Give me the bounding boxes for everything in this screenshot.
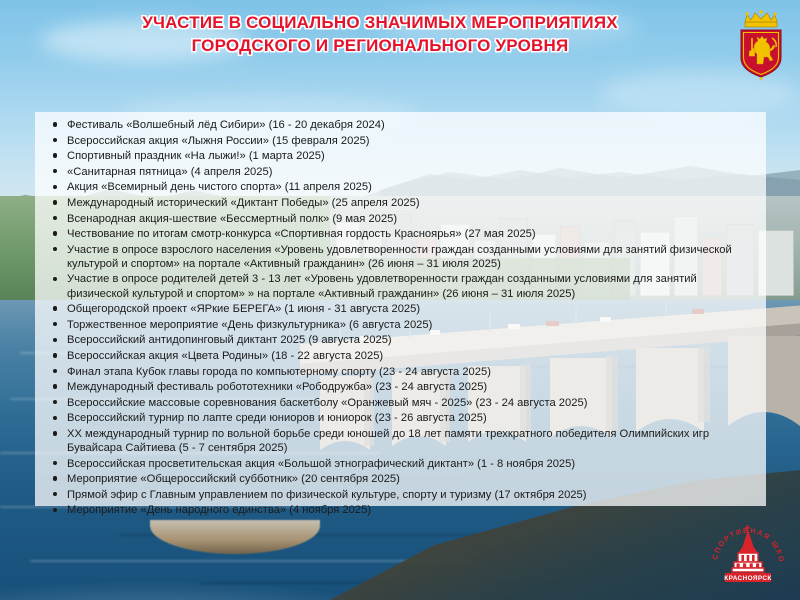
- list-item: Фестиваль «Волшебный лёд Сибири» (16 - 2…: [47, 118, 754, 132]
- list-item-label: Всероссийский антидопинговый диктант 202…: [67, 333, 754, 347]
- events-panel: Фестиваль «Волшебный лёд Сибири» (16 - 2…: [35, 112, 766, 506]
- list-item-label: XX международный турнир по вольной борьб…: [67, 427, 754, 455]
- page-title-line-1: УЧАСТИЕ В СОЦИАЛЬНО ЗНАЧИМЫХ МЕРОПРИЯТИЯ…: [60, 12, 700, 35]
- list-item: «Санитарная пятница» (4 апреля 2025): [47, 165, 754, 179]
- list-item: Всенародная акция-шествие «Бессмертный п…: [47, 212, 754, 226]
- bullet-icon: [53, 353, 57, 357]
- list-item: Торжественное мероприятие «День физкульт…: [47, 318, 754, 332]
- list-item-label: Мероприятие «Общероссийский субботник» (…: [67, 472, 754, 486]
- list-item-label: Акция «Всемирный день чистого спорта» (1…: [67, 180, 754, 194]
- bullet-icon: [53, 122, 57, 126]
- events-list: Фестиваль «Волшебный лёд Сибири» (16 - 2…: [35, 112, 766, 519]
- bullet-icon: [53, 338, 57, 342]
- list-item-label: Прямой эфир с Главным управлением по физ…: [67, 488, 754, 502]
- sport-school-emblem-icon: СПОРТИВНАЯ ШКОЛА: [708, 518, 788, 596]
- list-item: Прямой эфир с Главным управлением по физ…: [47, 488, 754, 502]
- list-item: Общегородской проект «ЯРкие БЕРЕГА» (1 и…: [47, 302, 754, 316]
- bullet-icon: [53, 200, 57, 204]
- bullet-icon: [53, 277, 57, 281]
- list-item-label: Финал этапа Кубок главы города по компью…: [67, 365, 754, 379]
- bullet-icon: [53, 431, 57, 435]
- bullet-icon: [53, 185, 57, 189]
- bullet-icon: [53, 508, 57, 512]
- list-item: Мероприятие «День народного единства» (4…: [47, 503, 754, 517]
- list-item-label: Мероприятие «День народного единства» (4…: [67, 503, 754, 517]
- list-item-label: Всенародная акция-шествие «Бессмертный п…: [67, 212, 754, 226]
- bullet-icon: [53, 231, 57, 235]
- list-item: Всероссийский антидопинговый диктант 202…: [47, 333, 754, 347]
- bullet-icon: [53, 416, 57, 420]
- page-title: УЧАСТИЕ В СОЦИАЛЬНО ЗНАЧИМЫХ МЕРОПРИЯТИЯ…: [60, 12, 700, 58]
- list-item: Всероссийский турнир по лапте среди юнио…: [47, 411, 754, 425]
- list-item-label: Международный исторический «Диктант Побе…: [67, 196, 754, 210]
- list-item-label: Участие в опросе родителей детей 3 - 13 …: [67, 272, 754, 300]
- list-item-label: Фестиваль «Волшебный лёд Сибири» (16 - 2…: [67, 118, 754, 132]
- bullet-icon: [53, 461, 57, 465]
- list-item: Финал этапа Кубок главы города по компью…: [47, 365, 754, 379]
- bullet-icon: [53, 476, 57, 480]
- list-item-label: Всероссийские массовые соревнования баск…: [67, 396, 754, 410]
- bullet-icon: [53, 322, 57, 326]
- list-item-label: Чествование по итогам смотр-конкурса «Сп…: [67, 227, 754, 241]
- list-item-label: «Санитарная пятница» (4 апреля 2025): [67, 165, 754, 179]
- list-item: XX международный турнир по вольной борьб…: [47, 427, 754, 455]
- krasnoyarsk-coat-of-arms-icon: [733, 8, 789, 80]
- page-title-line-2: ГОРОДСКОГО И РЕГИОНАЛЬНОГО УРОВНЯ: [60, 35, 700, 58]
- list-item: Международный исторический «Диктант Побе…: [47, 196, 754, 210]
- list-item: Всероссийская просветительская акция «Бо…: [47, 457, 754, 471]
- list-item-label: Торжественное мероприятие «День физкульт…: [67, 318, 754, 332]
- list-item-label: Общегородской проект «ЯРкие БЕРЕГА» (1 и…: [67, 302, 754, 316]
- list-item: Спортивный праздник «На лыжи!» (1 марта …: [47, 149, 754, 163]
- bullet-icon: [53, 216, 57, 220]
- bullet-icon: [53, 247, 57, 251]
- list-item: Всероссийская акция «Лыжня России» (15 ф…: [47, 134, 754, 148]
- list-item-label: Всероссийская акция «Цвета Родины» (18 -…: [67, 349, 754, 363]
- list-item-label: Всероссийская акция «Лыжня России» (15 ф…: [67, 134, 754, 148]
- bullet-icon: [53, 153, 57, 157]
- list-item: Мероприятие «Общероссийский субботник» (…: [47, 472, 754, 486]
- list-item: Акция «Всемирный день чистого спорта» (1…: [47, 180, 754, 194]
- svg-text:КРАСНОЯРСК: КРАСНОЯРСК: [724, 575, 771, 582]
- list-item-label: Спортивный праздник «На лыжи!» (1 марта …: [67, 149, 754, 163]
- list-item-label: Всероссийская просветительская акция «Бо…: [67, 457, 754, 471]
- list-item: Участие в опросе взрослого населения «Ур…: [47, 243, 754, 271]
- list-item-label: Участие в опросе взрослого населения «Ур…: [67, 243, 754, 271]
- list-item: Всероссийская акция «Цвета Родины» (18 -…: [47, 349, 754, 363]
- list-item: Международный фестиваль робототехники «Р…: [47, 380, 754, 394]
- slide-root: УЧАСТИЕ В СОЦИАЛЬНО ЗНАЧИМЫХ МЕРОПРИЯТИЯ…: [0, 0, 800, 600]
- list-item-label: Международный фестиваль робототехники «Р…: [67, 380, 754, 394]
- bullet-icon: [53, 369, 57, 373]
- list-item: Чествование по итогам смотр-конкурса «Сп…: [47, 227, 754, 241]
- bullet-icon: [53, 169, 57, 173]
- bullet-icon: [53, 384, 57, 388]
- bullet-icon: [53, 400, 57, 404]
- bullet-icon: [53, 138, 57, 142]
- list-item: Участие в опросе родителей детей 3 - 13 …: [47, 272, 754, 300]
- bullet-icon: [53, 492, 57, 496]
- bullet-icon: [53, 306, 57, 310]
- list-item: Всероссийские массовые соревнования баск…: [47, 396, 754, 410]
- list-item-label: Всероссийский турнир по лапте среди юнио…: [67, 411, 754, 425]
